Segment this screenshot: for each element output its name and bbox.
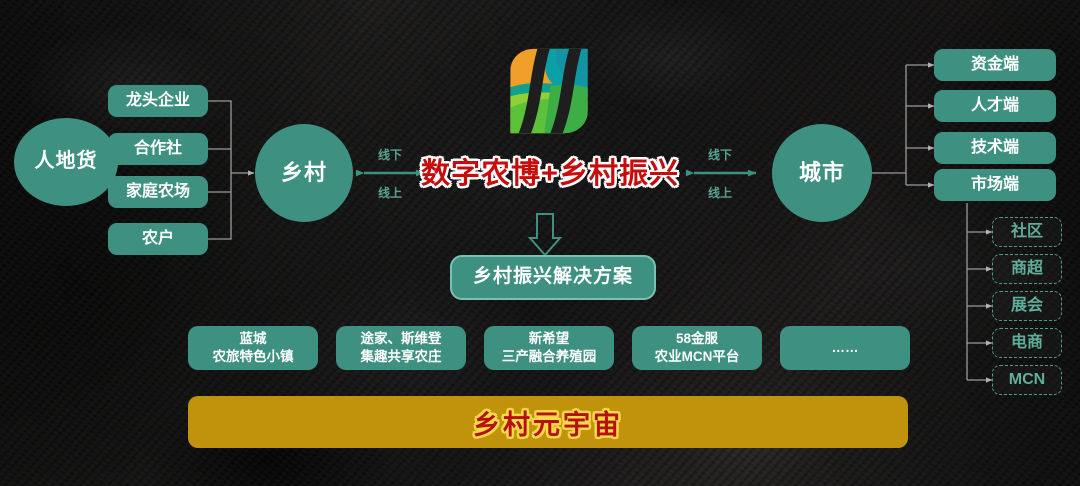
node-channel-0-label: 社区 bbox=[1011, 223, 1043, 242]
node-channel-1-label: 商超 bbox=[1011, 260, 1043, 279]
label-offline-left: 线下 bbox=[378, 146, 402, 163]
node-channel-3-label: 电商 bbox=[1011, 334, 1043, 353]
node-case-3-line2: 农业MCN平台 bbox=[655, 348, 740, 366]
node-case-0-line2: 农旅特色小镇 bbox=[213, 348, 294, 366]
node-channel-0[interactable]: 社区 bbox=[992, 217, 1062, 247]
node-actor-1-label: 合作社 bbox=[134, 140, 182, 159]
node-source-circle[interactable]: 人地货 bbox=[14, 118, 118, 206]
node-channel-4-label: MCN bbox=[1009, 371, 1045, 390]
metaverse-banner-label: 乡村元宇宙 bbox=[473, 403, 623, 442]
node-channel-4[interactable]: MCN bbox=[992, 365, 1062, 395]
node-end-2-label: 技术端 bbox=[971, 139, 1019, 158]
label-online-left: 线上 bbox=[378, 184, 402, 201]
node-end-1[interactable]: 人才端 bbox=[934, 90, 1056, 122]
node-actor-0[interactable]: 龙头企业 bbox=[108, 85, 208, 117]
node-end-0[interactable]: 资金端 bbox=[934, 49, 1056, 81]
node-actor-1[interactable]: 合作社 bbox=[108, 133, 208, 165]
node-village-label: 乡村 bbox=[281, 160, 327, 186]
node-case-1-line1: 途家、斯维登 bbox=[361, 330, 442, 348]
node-solution-label: 乡村振兴解决方案 bbox=[473, 266, 633, 288]
label-offline-right: 线下 bbox=[708, 146, 732, 163]
node-actor-0-label: 龙头企业 bbox=[126, 92, 190, 111]
node-solution-box[interactable]: 乡村振兴解决方案 bbox=[450, 255, 656, 300]
node-end-1-label: 人才端 bbox=[971, 97, 1019, 116]
node-actor-2-label: 家庭农场 bbox=[126, 183, 190, 202]
node-case-1[interactable]: 途家、斯维登 集趣共享农庄 bbox=[336, 326, 466, 370]
nodes-layer: 人地货 龙头企业 合作社 家庭农场 农户 乡村 bbox=[0, 0, 1080, 486]
node-case-0-line1: 蓝城 bbox=[240, 330, 267, 348]
metaverse-banner[interactable]: 乡村元宇宙 bbox=[188, 396, 908, 448]
node-actor-3-label: 农户 bbox=[142, 230, 174, 249]
node-village-circle[interactable]: 乡村 bbox=[255, 124, 353, 222]
label-online-right: 线上 bbox=[708, 184, 732, 201]
node-channel-2-label: 展会 bbox=[1011, 297, 1043, 316]
node-end-2[interactable]: 技术端 bbox=[934, 132, 1056, 164]
node-case-4-line1: …… bbox=[832, 339, 859, 357]
node-source-label: 人地货 bbox=[35, 150, 98, 174]
node-channel-2[interactable]: 展会 bbox=[992, 291, 1062, 321]
node-case-3[interactable]: 58金服 农业MCN平台 bbox=[632, 326, 762, 370]
node-channel-3[interactable]: 电商 bbox=[992, 328, 1062, 358]
node-city-circle[interactable]: 城市 bbox=[772, 124, 872, 222]
node-city-label: 城市 bbox=[799, 160, 845, 186]
node-actor-3[interactable]: 农户 bbox=[108, 223, 208, 255]
node-case-1-line2: 集趣共享农庄 bbox=[361, 348, 442, 366]
node-case-3-line1: 58金服 bbox=[676, 330, 718, 348]
node-end-0-label: 资金端 bbox=[971, 56, 1019, 75]
node-actor-2[interactable]: 家庭农场 bbox=[108, 176, 208, 208]
brand-logo-icon bbox=[505, 45, 593, 137]
node-end-3[interactable]: 市场端 bbox=[934, 169, 1056, 201]
node-channel-1[interactable]: 商超 bbox=[992, 254, 1062, 284]
node-case-0[interactable]: 蓝城 农旅特色小镇 bbox=[188, 326, 318, 370]
page-title: 数字农博+乡村振兴 bbox=[410, 150, 690, 192]
node-end-3-label: 市场端 bbox=[971, 176, 1019, 195]
node-case-4[interactable]: …… bbox=[780, 326, 910, 370]
node-case-2[interactable]: 新希望 三产融合养殖园 bbox=[484, 326, 614, 370]
node-case-2-line2: 三产融合养殖园 bbox=[502, 348, 597, 366]
node-case-2-line1: 新希望 bbox=[529, 330, 570, 348]
diagram-canvas: 人地货 龙头企业 合作社 家庭农场 农户 乡村 bbox=[0, 0, 1080, 486]
